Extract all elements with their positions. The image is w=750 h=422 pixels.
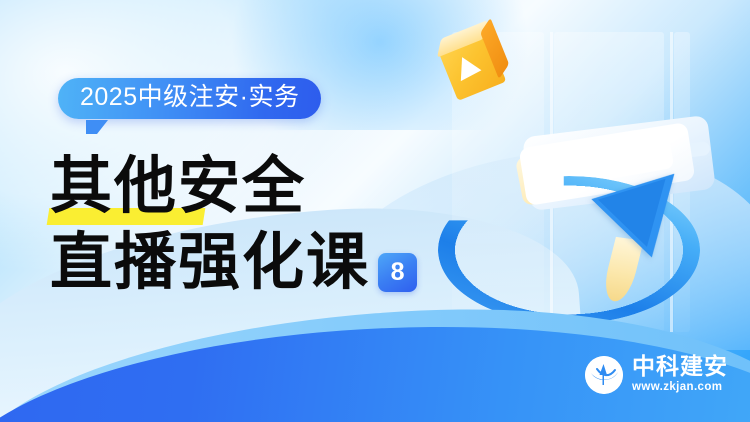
headline-line-2-wrap: 直播强化课 8 bbox=[50, 226, 450, 298]
illustration-group bbox=[430, 0, 750, 345]
course-tag-pill: 2025中级注安·实务 bbox=[58, 78, 321, 119]
play-triangle-icon bbox=[461, 57, 482, 82]
course-promo-banner: 2025中级注安·实务 其他安全 直播强化课 8 中科建安 ww bbox=[0, 0, 750, 422]
episode-number-badge: 8 bbox=[378, 253, 417, 292]
headline-line-1-wrap: 其他安全 bbox=[50, 150, 450, 222]
headline-line-1: 其他安全 bbox=[50, 150, 306, 222]
episode-number-label: 8 bbox=[391, 260, 405, 285]
brand-logo-text: 中科建安 www.zkjan.com bbox=[632, 356, 728, 394]
course-tag-label: 2025中级注安·实务 bbox=[80, 85, 299, 110]
brand-name: 中科建安 bbox=[632, 356, 728, 379]
headline-group: 其他安全 直播强化课 8 bbox=[50, 150, 450, 298]
zkjan-circle-logo-icon bbox=[585, 356, 623, 394]
headline-line-2: 直播强化课 bbox=[50, 226, 370, 298]
course-tag-badge: 2025中级注安·实务 bbox=[58, 78, 321, 119]
brand-logo: 中科建安 www.zkjan.com bbox=[585, 356, 728, 394]
brand-url: www.zkjan.com bbox=[632, 382, 728, 394]
course-tag-pointer-icon bbox=[86, 120, 108, 134]
